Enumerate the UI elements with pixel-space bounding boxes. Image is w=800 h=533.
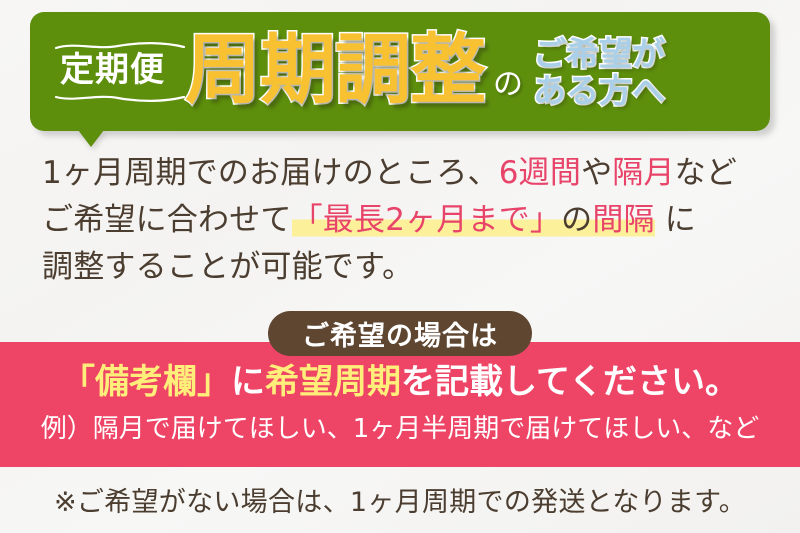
title-particle: の xyxy=(493,59,523,103)
desc-l1-part3: や xyxy=(581,155,612,191)
desc-l2-part3: の xyxy=(561,202,592,238)
description-line-3: 調整することが可能です。 xyxy=(42,244,772,291)
target-audience-line-1: ご希望が xyxy=(533,36,665,73)
description-line-1: 1ヶ月周期でのお届けのところ、6週間や隔月など xyxy=(42,150,772,197)
desc-l3-part1: 調整することが可能です。 xyxy=(42,249,413,285)
header-section: 定期便 周期調整 の ご希望が ある方へ xyxy=(0,0,800,148)
request-case-badge-label: ご希望の場合は xyxy=(302,314,498,353)
header-content: 定期便 周期調整 の ご希望が ある方へ xyxy=(30,12,770,131)
description-line-2: ご希望に合わせて「最長2ヶ月まで」の間隔 に xyxy=(42,197,772,244)
desc-l1-accent-6weeks: 6週間 xyxy=(499,155,581,191)
desc-l1-part1: 1ヶ月周期でのお届けのところ、 xyxy=(42,155,499,191)
desc-l2-accent-interval: 間隔 xyxy=(592,202,654,238)
description-paragraph: 1ヶ月周期でのお届けのところ、6週間や隔月など ご希望に合わせて「最長2ヶ月まで… xyxy=(42,150,772,291)
instruction-example-text: 例）隔月で届けてほしい、1ヶ月半周期で届けてほしい、など xyxy=(0,415,800,444)
subscription-cycle-adjustment-banner: 定期便 周期調整 の ご希望が ある方へ 1ヶ月周期でのお届けのところ、6週間や… xyxy=(0,0,800,533)
request-case-badge: ご希望の場合は xyxy=(268,311,532,356)
desc-l2-part1: ご希望に合わせて xyxy=(42,202,292,238)
instruction-main-text: 「備考欄」に希望周期を記載してください。 xyxy=(0,364,800,401)
desc-l1-accent-bimonthly: 隔月 xyxy=(612,155,674,191)
wave-line-top-icon xyxy=(54,41,186,51)
page-title: 周期調整 xyxy=(185,32,485,108)
desc-l2-accent-max-two-months: 「最長2ヶ月まで」 xyxy=(292,202,562,238)
instruction-band: 「備考欄」に希望周期を記載してください。 例）隔月で届けてほしい、1ヶ月半周期で… xyxy=(0,342,800,467)
subscription-label: 定期便 xyxy=(60,53,165,89)
target-audience-block: ご希望が ある方へ xyxy=(533,36,665,110)
target-audience-line-2: ある方へ xyxy=(533,73,665,110)
instruction-part2: に xyxy=(231,362,265,402)
instruction-part4: を記載してください。 xyxy=(401,362,739,402)
desc-l2-part5: に xyxy=(655,202,696,238)
instruction-remarks-field: 「備考欄」 xyxy=(61,362,231,402)
desc-l1-part5: など xyxy=(675,155,737,191)
instruction-desired-cycle: 希望周期 xyxy=(265,362,401,402)
subscription-label-block: 定期便 xyxy=(54,49,171,95)
callout-tail xyxy=(78,130,104,147)
footnote-text: ※ご希望がない場合は、1ヶ月周期での発送となります。 xyxy=(0,480,800,519)
wave-line-bottom-icon xyxy=(54,93,186,103)
